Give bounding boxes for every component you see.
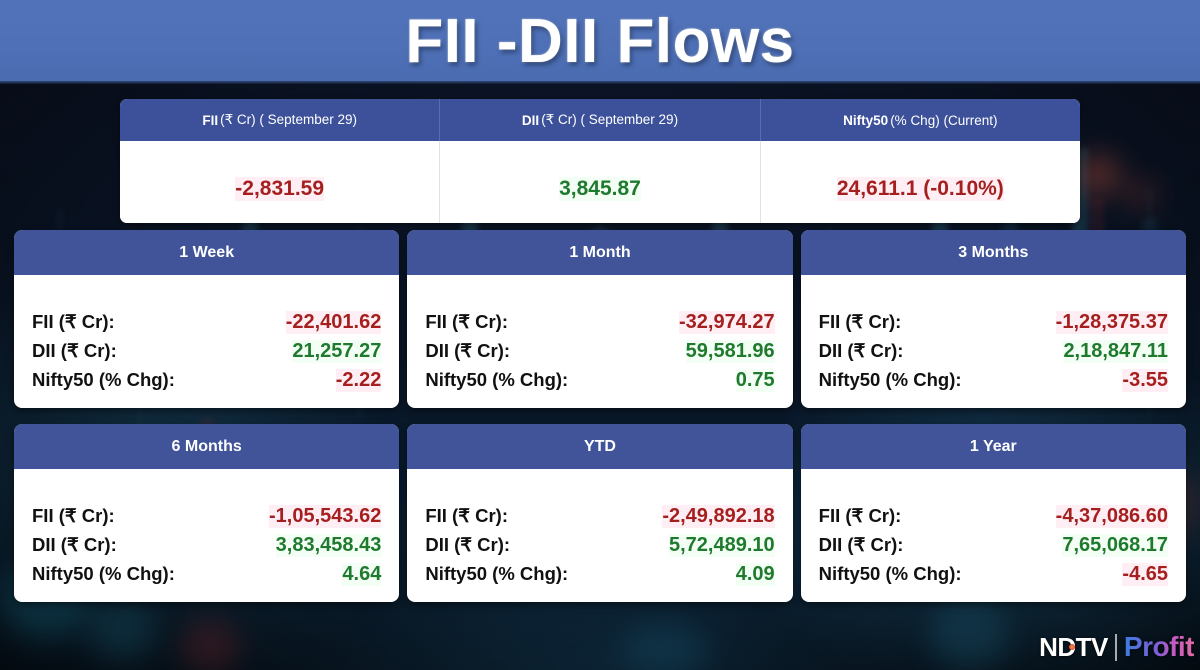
card-row-nifty: Nifty50 (% Chg): -2.22 (32, 369, 381, 398)
card-row-nifty: Nifty50 (% Chg): -3.55 (819, 369, 1168, 398)
period-card-title: 1 Week (14, 230, 399, 275)
period-card-3-months: 3 Months FII (₹ Cr): -1,28,375.37 DII (₹… (801, 230, 1186, 408)
period-card-body: FII (₹ Cr): -1,28,375.37 DII (₹ Cr): 2,1… (801, 275, 1186, 408)
card-label-dii: DII (₹ Cr): (819, 534, 904, 556)
card-label-fii: FII (₹ Cr): (819, 311, 902, 333)
period-card-body: FII (₹ Cr): -22,401.62 DII (₹ Cr): 21,25… (14, 275, 399, 408)
card-label-nifty: Nifty50 (% Chg): (32, 563, 175, 585)
summary-table: FII(₹ Cr) ( September 29) DII(₹ Cr) ( Se… (120, 99, 1080, 223)
card-label-nifty: Nifty50 (% Chg): (425, 563, 568, 585)
card-label-nifty: Nifty50 (% Chg): (32, 369, 175, 391)
summary-value-dii-cell: 3,845.87 (439, 141, 759, 223)
card-row-dii: DII (₹ Cr): 59,581.96 (425, 340, 774, 369)
card-value-fii: -2,49,892.18 (662, 505, 774, 528)
card-row-dii: DII (₹ Cr): 21,257.27 (32, 340, 381, 369)
summary-value-dii: 3,845.87 (559, 177, 641, 201)
card-row-fii: FII (₹ Cr): -1,05,543.62 (32, 505, 381, 534)
summary-header-fii: FII(₹ Cr) ( September 29) (120, 99, 439, 141)
card-label-nifty: Nifty50 (% Chg): (819, 369, 962, 391)
card-value-dii: 7,65,068.17 (1062, 534, 1168, 557)
card-row-nifty: Nifty50 (% Chg): 0.75 (425, 369, 774, 398)
card-value-dii: 5,72,489.10 (669, 534, 775, 557)
card-row-fii: FII (₹ Cr): -22,401.62 (32, 311, 381, 340)
card-row-dii: DII (₹ Cr): 2,18,847.11 (819, 340, 1168, 369)
card-value-dii: 21,257.27 (292, 340, 381, 363)
card-row-dii: DII (₹ Cr): 7,65,068.17 (819, 534, 1168, 563)
summary-header-nifty-rest: (% Chg) (Current) (890, 113, 997, 128)
period-card-6-months: 6 Months FII (₹ Cr): -1,05,543.62 DII (₹… (14, 424, 399, 602)
logo-divider (1115, 634, 1117, 661)
period-card-ytd: YTD FII (₹ Cr): -2,49,892.18 DII (₹ Cr):… (407, 424, 792, 602)
dashboard-screenshot: FII -DII Flows FII(₹ Cr) ( September 29)… (0, 0, 1200, 670)
period-card-title: 1 Month (407, 230, 792, 275)
summary-value-nifty-cell: 24,611.1 (-0.10%) (760, 141, 1080, 223)
card-value-fii: -1,05,543.62 (269, 505, 381, 528)
period-cards-grid: 1 Week FII (₹ Cr): -22,401.62 DII (₹ Cr)… (14, 230, 1186, 602)
card-label-fii: FII (₹ Cr): (32, 505, 115, 527)
card-value-fii: -22,401.62 (286, 311, 382, 334)
period-card-body: FII (₹ Cr): -32,974.27 DII (₹ Cr): 59,58… (407, 275, 792, 408)
summary-header-fii-rest: (₹ Cr) ( September 29) (220, 112, 357, 128)
card-label-nifty: Nifty50 (% Chg): (425, 369, 568, 391)
card-label-fii: FII (₹ Cr): (32, 311, 115, 333)
card-value-dii: 2,18,847.11 (1063, 340, 1168, 363)
card-label-fii: FII (₹ Cr): (425, 505, 508, 527)
summary-header-nifty: Nifty50(% Chg) (Current) (760, 99, 1080, 141)
summary-value-nifty: 24,611.1 (-0.10%) (837, 177, 1004, 201)
card-value-nifty: -3.55 (1122, 369, 1168, 392)
card-row-fii: FII (₹ Cr): -32,974.27 (425, 311, 774, 340)
card-row-fii: FII (₹ Cr): -1,28,375.37 (819, 311, 1168, 340)
card-row-nifty: Nifty50 (% Chg): 4.64 (32, 563, 381, 592)
card-value-dii: 59,581.96 (686, 340, 775, 363)
card-row-dii: DII (₹ Cr): 3,83,458.43 (32, 534, 381, 563)
card-value-nifty: 0.75 (736, 369, 775, 392)
card-row-dii: DII (₹ Cr): 5,72,489.10 (425, 534, 774, 563)
summary-header-nifty-bold: Nifty50 (843, 113, 888, 128)
card-label-fii: FII (₹ Cr): (425, 311, 508, 333)
card-label-nifty: Nifty50 (% Chg): (819, 563, 962, 585)
card-value-dii: 3,83,458.43 (276, 534, 382, 557)
card-value-fii: -1,28,375.37 (1056, 311, 1168, 334)
period-card-body: FII (₹ Cr): -4,37,086.60 DII (₹ Cr): 7,6… (801, 469, 1186, 602)
card-row-nifty: Nifty50 (% Chg): 4.09 (425, 563, 774, 592)
summary-value-fii: -2,831.59 (235, 177, 324, 201)
summary-value-fii-cell: -2,831.59 (120, 141, 439, 223)
period-card-title: 6 Months (14, 424, 399, 469)
period-card-1-week: 1 Week FII (₹ Cr): -22,401.62 DII (₹ Cr)… (14, 230, 399, 408)
period-card-body: FII (₹ Cr): -2,49,892.18 DII (₹ Cr): 5,7… (407, 469, 792, 602)
ndtv-logo-dot-icon (1069, 644, 1075, 650)
card-value-nifty: -2.22 (336, 369, 382, 392)
card-label-dii: DII (₹ Cr): (819, 340, 904, 362)
title-banner: FII -DII Flows (0, 0, 1200, 84)
card-row-nifty: Nifty50 (% Chg): -4.65 (819, 563, 1168, 592)
card-value-nifty: 4.09 (736, 563, 775, 586)
card-row-fii: FII (₹ Cr): -4,37,086.60 (819, 505, 1168, 534)
ndtv-profit-logo: NDTV Profit (1039, 630, 1194, 664)
summary-header-dii: DII(₹ Cr) ( September 29) (439, 99, 759, 141)
period-card-title: 3 Months (801, 230, 1186, 275)
summary-header-fii-bold: FII (202, 113, 218, 128)
summary-table-header-row: FII(₹ Cr) ( September 29) DII(₹ Cr) ( Se… (120, 99, 1080, 141)
period-card-1-month: 1 Month FII (₹ Cr): -32,974.27 DII (₹ Cr… (407, 230, 792, 408)
card-value-fii: -32,974.27 (679, 311, 775, 334)
card-label-dii: DII (₹ Cr): (425, 340, 510, 362)
page-title: FII -DII Flows (405, 6, 794, 77)
card-label-fii: FII (₹ Cr): (819, 505, 902, 527)
card-value-nifty: 4.64 (342, 563, 381, 586)
summary-table-value-row: -2,831.59 3,845.87 24,611.1 (-0.10%) (120, 141, 1080, 223)
card-row-fii: FII (₹ Cr): -2,49,892.18 (425, 505, 774, 534)
card-value-nifty: -4.65 (1122, 563, 1168, 586)
period-card-body: FII (₹ Cr): -1,05,543.62 DII (₹ Cr): 3,8… (14, 469, 399, 602)
ndtv-wordmark: NDTV (1039, 632, 1108, 663)
period-card-title: 1 Year (801, 424, 1186, 469)
card-label-dii: DII (₹ Cr): (32, 340, 117, 362)
card-label-dii: DII (₹ Cr): (32, 534, 117, 556)
period-card-1-year: 1 Year FII (₹ Cr): -4,37,086.60 DII (₹ C… (801, 424, 1186, 602)
card-value-fii: -4,37,086.60 (1056, 505, 1168, 528)
summary-header-dii-bold: DII (522, 113, 539, 128)
profit-wordmark: Profit (1124, 631, 1194, 663)
period-card-title: YTD (407, 424, 792, 469)
summary-header-dii-rest: (₹ Cr) ( September 29) (541, 112, 678, 128)
card-label-dii: DII (₹ Cr): (425, 534, 510, 556)
